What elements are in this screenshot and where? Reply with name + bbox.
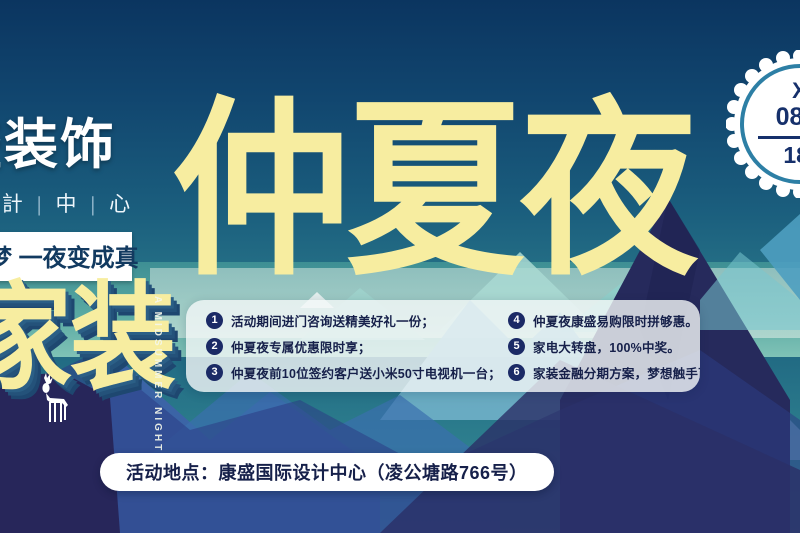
- benefit-text: 仲夏夜康盛易购限时拼够惠。: [533, 311, 698, 330]
- benefit-item: 6 家装金融分期方案，梦想触手可及。: [508, 363, 700, 382]
- brand-logo-block: 盛装饰 設 | 計 | 中 | 心 装梦 一夜变成真: [0, 118, 188, 281]
- benefits-column-right: 4 仲夏夜康盛易购限时拼够惠。 5 家电大转盘，100%中奖。 6 家装金融分期…: [508, 311, 700, 382]
- benefit-item: 4 仲夏夜康盛易购限时拼够惠。: [508, 311, 700, 330]
- seal-divider: [758, 136, 800, 139]
- benefit-item: 5 家电大转盘，100%中奖。: [508, 337, 700, 356]
- benefit-text: 家装金融分期方案，梦想触手可及。: [533, 363, 700, 382]
- benefit-number-badge: 2: [206, 338, 223, 355]
- benefit-text: 家电大转盘，100%中奖。: [533, 337, 680, 356]
- benefit-number-badge: 5: [508, 338, 525, 355]
- benefit-text: 仲夏夜专属优惠限时享；: [231, 337, 371, 356]
- benefit-text: 仲夏夜前10位签约客户送小米50寸电视机一台；: [231, 363, 501, 382]
- benefit-number-badge: 1: [206, 312, 223, 329]
- brand-sub-sep-2: |: [91, 192, 96, 216]
- seal-top-line: X: [792, 79, 800, 103]
- seal-date: 08/2: [776, 103, 800, 132]
- benefit-number-badge: 4: [508, 312, 525, 329]
- vertical-english-text: A MIDSUMMER NIGHT: [152, 296, 163, 453]
- benefit-item: 2 仲夏夜专属优惠限时享；: [206, 337, 498, 356]
- secondary-headline: 家装: [0, 280, 174, 397]
- brand-sub-3: 心: [109, 192, 131, 216]
- benefit-item: 1 活动期间进门咨询送精美好礼一份；: [206, 311, 498, 330]
- benefit-item: 3 仲夏夜前10位签约客户送小米50寸电视机一台；: [206, 363, 498, 382]
- venue-text: 活动地点：康盛国际设计中心（凌公塘路766号）: [126, 459, 528, 485]
- benefits-panel: 1 活动期间进门咨询送精美好礼一份； 2 仲夏夜专属优惠限时享； 3 仲夏夜前1…: [186, 300, 700, 392]
- main-headline: 仲夏夜: [172, 96, 694, 286]
- brand-sub-sep-1: |: [37, 192, 42, 216]
- date-seal-badge: X 08/2 18:: [726, 50, 800, 198]
- brand-subtitle: 設 | 計 | 中 | 心: [0, 188, 188, 218]
- promo-poster: 盛装饰 設 | 計 | 中 | 心 装梦 一夜变成真 仲夏夜 家装 A MIDS…: [0, 0, 800, 533]
- seal-time: 18:: [783, 142, 800, 169]
- brand-name: 盛装饰: [0, 118, 188, 172]
- benefits-column-left: 1 活动期间进门咨询送精美好礼一份； 2 仲夏夜专属优惠限时享； 3 仲夏夜前1…: [206, 311, 498, 382]
- brand-sub-2: 中: [55, 192, 77, 216]
- benefit-number-badge: 6: [508, 364, 525, 381]
- brand-sub-1: 計: [2, 192, 24, 216]
- benefit-number-badge: 3: [206, 364, 223, 381]
- benefit-text: 活动期间进门咨询送精美好礼一份；: [231, 311, 434, 330]
- venue-pill: 活动地点：康盛国际设计中心（凌公塘路766号）: [100, 453, 554, 491]
